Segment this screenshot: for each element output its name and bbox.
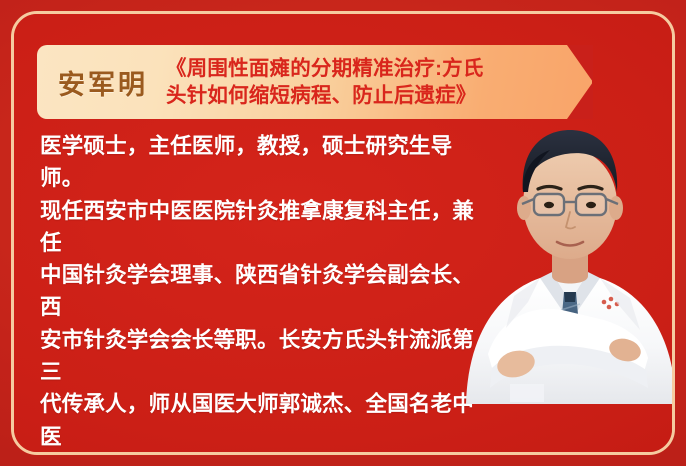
speaker-profile-card: 安军明 《周围性面瘫的分期精准治疗:方氏 头针如何缩短病程、防止后遗症》 医学硕… (0, 0, 686, 466)
doctor-portrait-photo (454, 96, 672, 404)
card-inner-panel: 安军明 《周围性面瘫的分期精准治疗:方氏 头针如何缩短病程、防止后遗症》 医学硕… (14, 14, 672, 452)
doctor-portrait-illustration (454, 96, 672, 404)
speaker-bio-text: 医学硕士，主任医师，教授，硕士研究生导师。 现任西安市中医医院针灸推拿康复科主任… (40, 130, 492, 452)
